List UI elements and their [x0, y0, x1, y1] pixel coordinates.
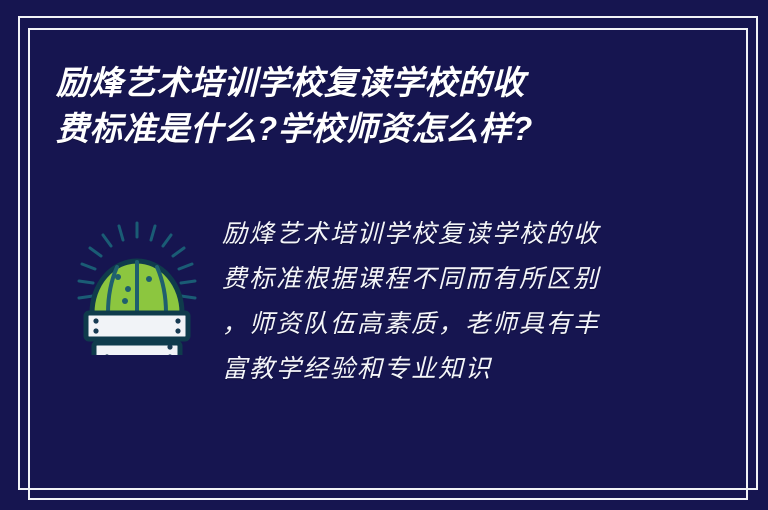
title-line-2: 费标准是什么?学校师资怎么样? — [56, 106, 666, 152]
title-line-1: 励烽艺术培训学校复读学校的收 — [56, 60, 666, 106]
body-line-4: 富教学经验和专业知识 — [222, 346, 662, 391]
body-line-1: 励烽艺术培训学校复读学校的收 — [222, 211, 662, 256]
body-line-2: 费标准根据课程不同而有所区别 — [222, 256, 662, 301]
poster-canvas: 励烽艺术培训学校复读学校的收 费标准是什么?学校师资怎么样? — [0, 0, 768, 510]
pot-lower-band — [94, 343, 180, 355]
body-line-3: ，师资队伍高素质，老师具有丰 — [222, 301, 662, 346]
page-title: 励烽艺术培训学校复读学校的收 费标准是什么?学校师资怎么样? — [56, 60, 666, 152]
cactus-icon — [62, 205, 212, 355]
content-row: 励烽艺术培训学校复读学校的收 费标准根据课程不同而有所区别 ，师资队伍高素质，老… — [0, 205, 768, 391]
pot-upper-band — [86, 313, 188, 339]
body-text: 励烽艺术培训学校复读学校的收 费标准根据课程不同而有所区别 ，师资队伍高素质，老… — [222, 205, 662, 391]
